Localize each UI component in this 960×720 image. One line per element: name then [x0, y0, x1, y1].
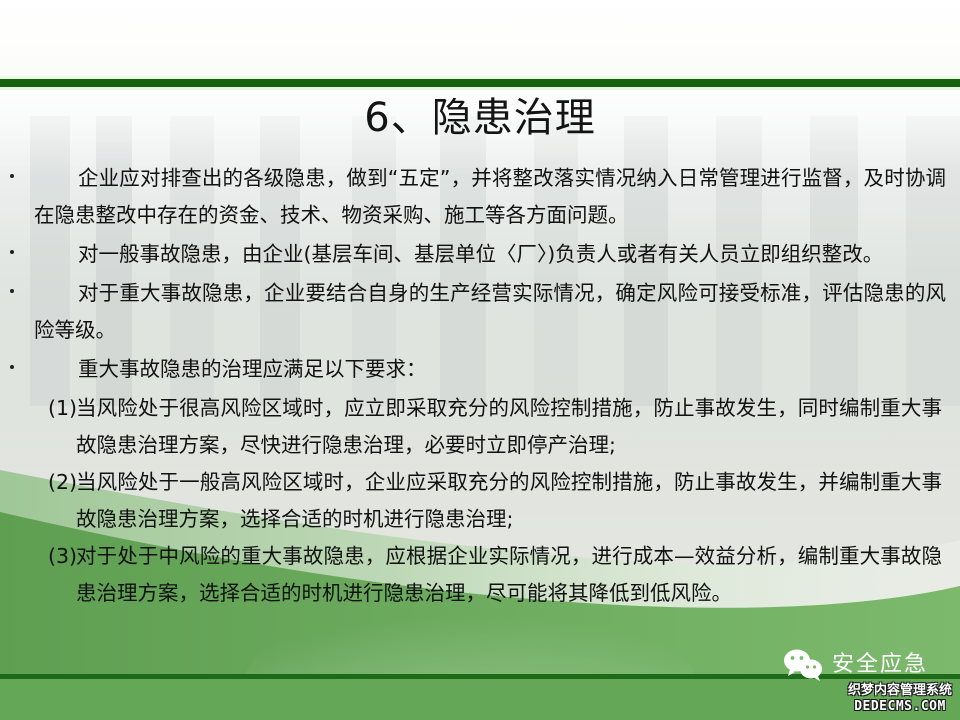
dedecms-domain-label: DEDECMS.COM: [848, 700, 952, 713]
bullet-item: 对于重大事故隐患，企业要结合自身的生产经营实际情况，确定风险可接受标准，评估隐患…: [0, 275, 960, 349]
bullet-item: 重大事故隐患的治理应满足以下要求：: [0, 351, 960, 388]
numbered-item: (3) 对于处于中风险的重大事故隐患，应根据企业实际情况，进行成本—效益分析，编…: [48, 538, 942, 612]
bullet-item: 对一般事故隐患，由企业(基层车间、基层单位〈厂〉)负责人或者有关人员立即组织整改…: [0, 236, 960, 273]
dedecms-watermark: 织梦内容管理系统 DEDECMS.COM: [848, 684, 952, 713]
bullet-dot-icon: [10, 174, 14, 178]
numbered-item: (2) 当风险处于一般高风险区域时，企业应采取充分的风险控制措施，防止事故发生，…: [48, 464, 942, 538]
dedecms-chinese-label: 织梦内容管理系统: [848, 684, 952, 697]
bullet-text: 企业应对排查出的各级隐患，做到“五定”，并将整改落实情况纳入日常管理进行监督，及…: [34, 160, 946, 234]
numbered-item-text: 对于处于中风险的重大事故隐患，应根据企业实际情况，进行成本—效益分析，编制重大事…: [76, 538, 942, 612]
bullet-text: 对于重大事故隐患，企业要结合自身的生产经营实际情况，确定风险可接受标准，评估隐患…: [34, 275, 946, 349]
bullet-dot-icon: [10, 250, 14, 254]
bullet-text: 对一般事故隐患，由企业(基层车间、基层单位〈厂〉)负责人或者有关人员立即组织整改…: [34, 236, 946, 273]
numbered-item-text: 当风险处于一般高风险区域时，企业应采取充分的风险控制措施，防止事故发生，并编制重…: [76, 464, 942, 538]
numbered-item-label: (2): [48, 464, 77, 501]
slide-body: 企业应对排查出的各级隐患，做到“五定”，并将整改落实情况纳入日常管理进行监督，及…: [0, 160, 960, 612]
wechat-account-label: 安全应急: [832, 652, 928, 678]
bullet-text: 重大事故隐患的治理应满足以下要求：: [34, 351, 946, 388]
bullet-dot-icon: [10, 365, 14, 369]
footer-green-band: [0, 679, 960, 720]
numbered-item-text: 当风险处于很高风险区域时，应立即采取充分的风险控制措施，防止事故发生，同时编制重…: [76, 390, 942, 464]
numbered-item-label: (3): [48, 538, 77, 575]
numbered-item: (1) 当风险处于很高风险区域时，应立即采取充分的风险控制措施，防止事故发生，同…: [48, 390, 942, 464]
wechat-watermark: 安全应急: [782, 648, 928, 682]
slide-canvas: 6、隐患治理 企业应对排查出的各级隐患，做到“五定”，并将整改落实情况纳入日常管…: [0, 0, 960, 720]
slide-title: 6、隐患治理: [0, 92, 960, 144]
bullet-item: 企业应对排查出的各级隐患，做到“五定”，并将整改落实情况纳入日常管理进行监督，及…: [0, 160, 960, 234]
bullet-dot-icon: [10, 289, 14, 293]
wechat-icon: [782, 648, 824, 682]
numbered-item-label: (1): [48, 390, 77, 427]
